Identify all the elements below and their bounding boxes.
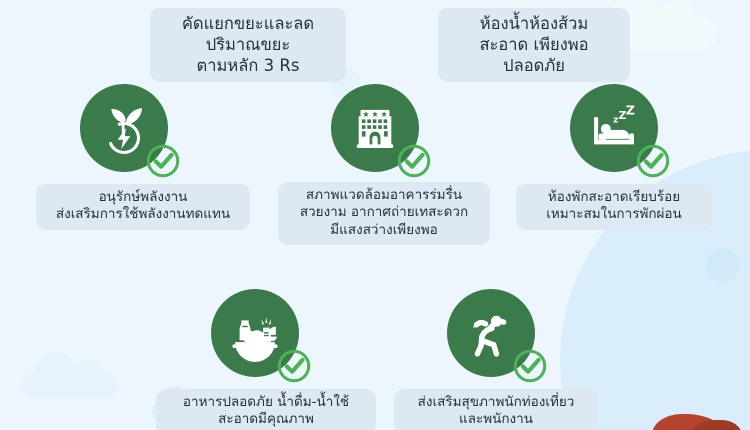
infographic-poster: คัดแยกขยะและลดปริมาณขยะ ตามหลัก 3 Rs ห้อ… — [0, 0, 750, 430]
caption-building: สภาพแวดล้อมอาคารร่มรื่น สวยงาม อากาศถ่าย… — [278, 182, 490, 245]
header-restroom: ห้องน้ำห้องส้วม สะอาด เพียงพอ ปลอดภัย — [438, 8, 630, 82]
check-badge-icon — [144, 142, 182, 180]
check-badge-icon — [275, 347, 313, 385]
check-badge-icon — [511, 347, 549, 385]
svg-text:Z: Z — [626, 102, 635, 117]
caption-bedroom: ห้องพักสะอาดเรียบร้อย เหมาะสมในการพักผ่อ… — [516, 184, 712, 230]
icon-badge-building — [331, 84, 419, 172]
icon-badge-food — [211, 289, 299, 377]
icon-badge-bedroom: z Z Z — [570, 84, 658, 172]
caption-energy: อนุรักษ์พลังงาน ส่งเสริมการใช้พลังงานทดแ… — [36, 184, 250, 230]
check-badge-icon — [395, 142, 433, 180]
header-waste-management: คัดแยกขยะและลดปริมาณขยะ ตามหลัก 3 Rs — [150, 8, 346, 82]
caption-health: ส่งเสริมสุขภาพนักท่องเที่ยว และพนักงาน — [394, 389, 598, 430]
check-badge-icon — [634, 142, 672, 180]
caption-food: อาหารปลอดภัย น้ำดื่ม-น้ำใช้ สะอาดมีคุณภา… — [156, 389, 376, 430]
svg-text:z: z — [613, 116, 618, 126]
icon-badge-health — [447, 289, 535, 377]
icon-badge-energy — [80, 84, 168, 172]
